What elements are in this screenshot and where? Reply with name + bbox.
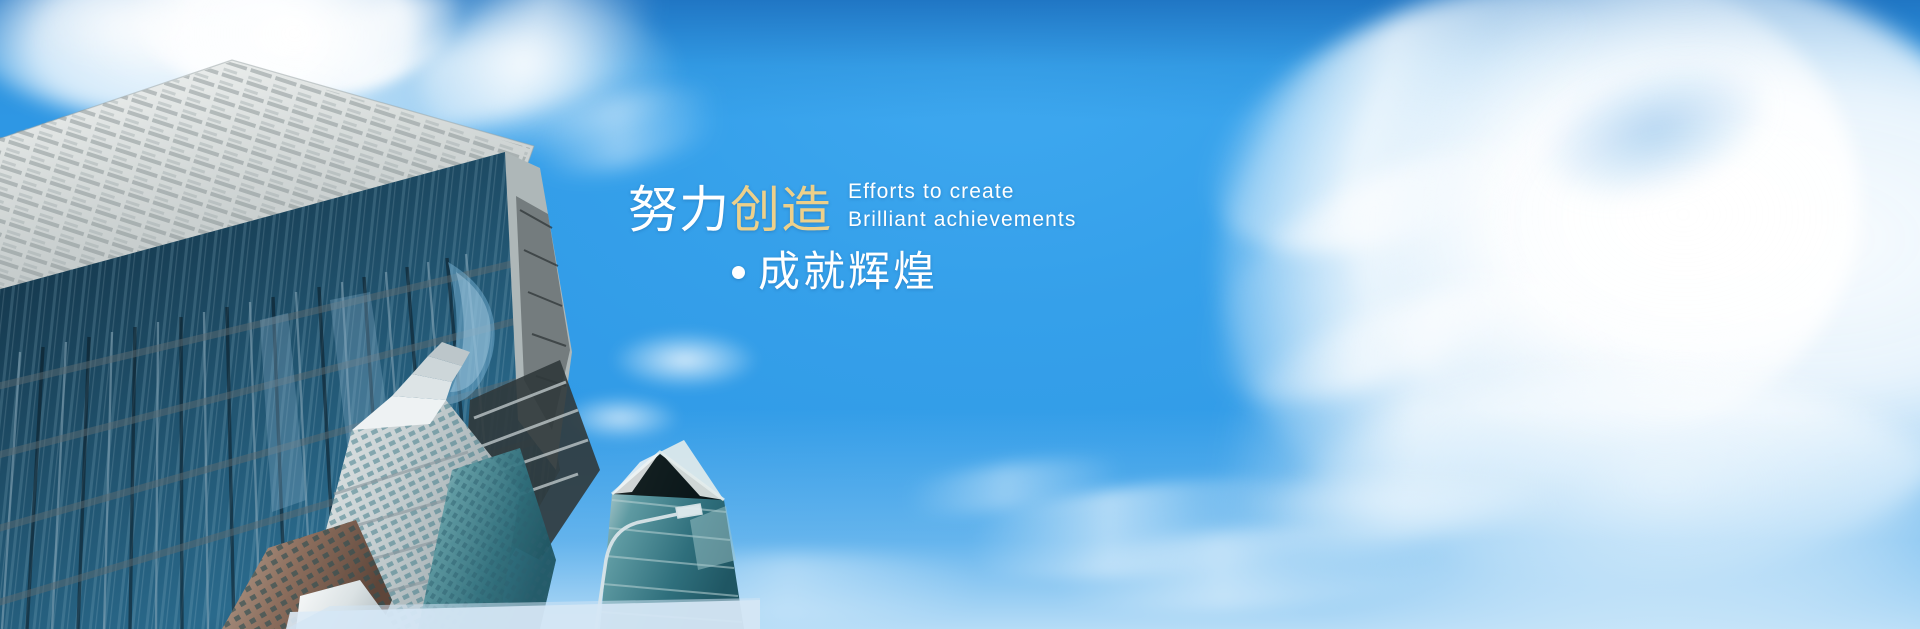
headline-cn-accent: 创造 (730, 182, 832, 238)
headline-en-line2: Brilliant achievements (848, 206, 1076, 234)
headline-primary-line: 努力创造 Efforts to create Brilliant achieve… (628, 178, 1328, 237)
headline-block: 努力创造 Efforts to create Brilliant achieve… (628, 178, 1328, 295)
headline-cn-group: 努力创造 (628, 184, 832, 237)
headline-en-line1: Efforts to create (848, 178, 1076, 206)
hero-banner: 努力创造 Efforts to create Brilliant achieve… (0, 0, 1920, 629)
headline-secondary-line: 成就辉煌 (732, 249, 1328, 295)
headline-cn-primary: 努力 (628, 182, 730, 238)
bullet-dot-icon (732, 266, 745, 279)
cityscape-photo (0, 0, 760, 629)
headline-en-block: Efforts to create Brilliant achievements (848, 178, 1076, 237)
cityscape-svg (0, 0, 760, 629)
headline-cn-secondary: 成就辉煌 (758, 249, 938, 295)
